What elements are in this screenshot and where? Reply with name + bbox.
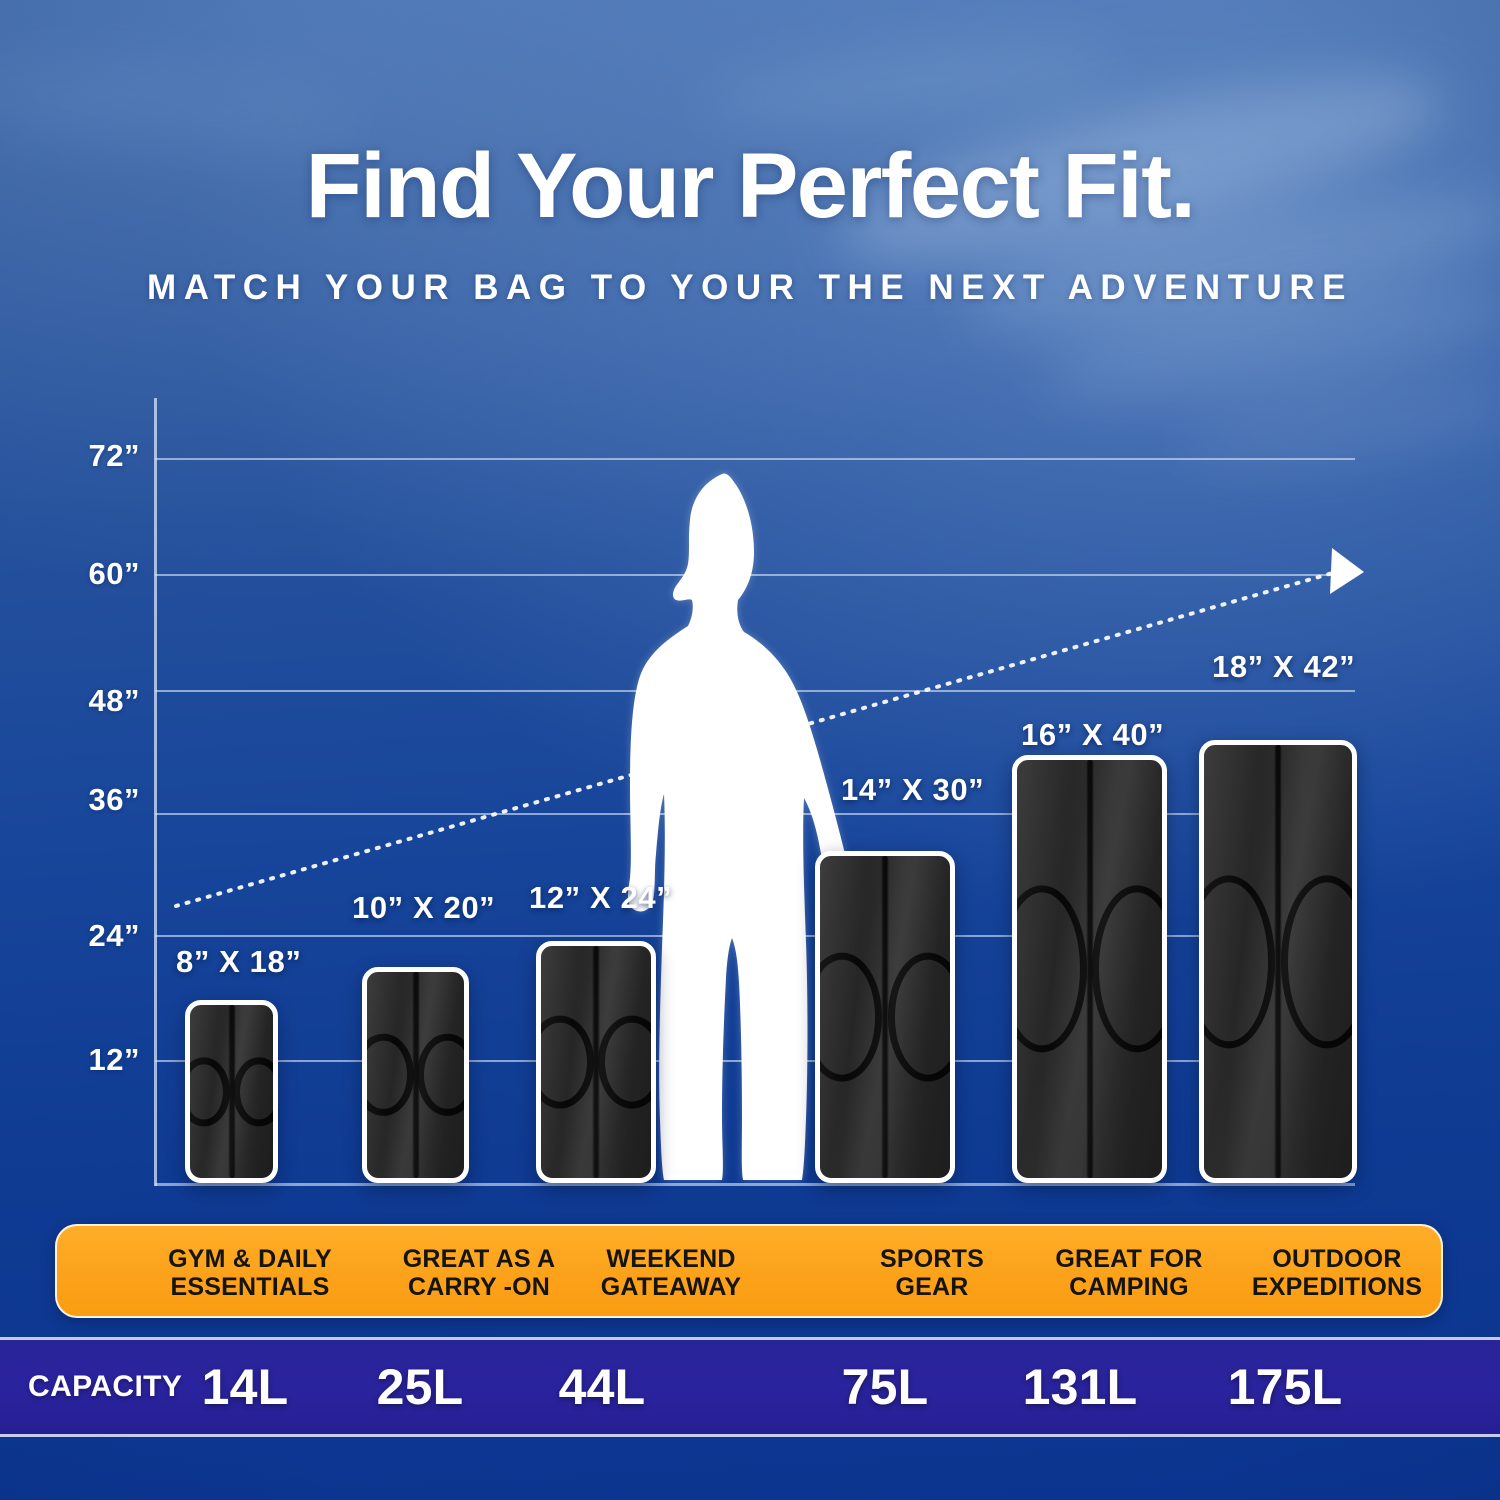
use-case-line: EXPEDITIONS bbox=[1252, 1273, 1422, 1302]
gridline-72 bbox=[155, 458, 1355, 460]
y-tick-label: 24” bbox=[89, 918, 140, 954]
use-case-line: ESSENTIALS bbox=[171, 1273, 330, 1302]
capacity-value-2: 25L bbox=[325, 1340, 515, 1434]
bar-label-1: 8” X 18” bbox=[176, 944, 301, 980]
bag-bar-6[interactable] bbox=[1199, 740, 1357, 1183]
bag-bar-3[interactable] bbox=[536, 941, 656, 1183]
use-case-line: GYM & DAILY bbox=[168, 1245, 332, 1274]
use-case-line: OUTDOOR bbox=[1272, 1245, 1401, 1274]
bag-bar-4[interactable] bbox=[815, 851, 955, 1183]
bar-label-4: 14” X 30” bbox=[841, 772, 984, 808]
bar-label-3: 12” X 24” bbox=[529, 880, 672, 916]
use-case-bar: GYM & DAILY ESSENTIALS GREAT AS A CARRY … bbox=[55, 1224, 1443, 1318]
bag-sheen bbox=[541, 946, 651, 1178]
y-tick-label: 36” bbox=[89, 782, 140, 818]
use-case-3[interactable]: WEEKEND GATEAWAY bbox=[556, 1240, 786, 1306]
use-case-line: CAMPING bbox=[1069, 1273, 1188, 1302]
bar-label-6: 18” X 42” bbox=[1212, 649, 1355, 685]
capacity-band: CAPACITY 14L 25L 44L 75L 131L 175L bbox=[0, 1337, 1500, 1437]
y-tick-label: 72” bbox=[89, 438, 140, 474]
use-case-4[interactable]: SPORTS GEAR bbox=[842, 1240, 1022, 1306]
bag-bar-1[interactable] bbox=[185, 1000, 278, 1183]
y-tick-label: 60” bbox=[89, 556, 140, 592]
use-case-1[interactable]: GYM & DAILY ESSENTIALS bbox=[130, 1240, 370, 1306]
use-case-line: GREAT AS A bbox=[403, 1245, 555, 1274]
use-case-5[interactable]: GREAT FOR CAMPING bbox=[1020, 1240, 1238, 1306]
bag-bar-2[interactable] bbox=[362, 967, 469, 1183]
y-axis-line bbox=[154, 398, 157, 1186]
bag-sheen bbox=[190, 1005, 273, 1178]
bar-label-2: 10” X 20” bbox=[352, 890, 495, 926]
bag-bar-5[interactable] bbox=[1012, 755, 1167, 1183]
y-tick-label: 12” bbox=[89, 1042, 140, 1078]
capacity-value-3: 44L bbox=[502, 1340, 702, 1434]
capacity-value-1: 14L bbox=[150, 1340, 340, 1434]
capacity-value-5: 131L bbox=[975, 1340, 1185, 1434]
use-case-line: GREAT FOR bbox=[1055, 1245, 1202, 1274]
use-case-2[interactable]: GREAT AS A CARRY -ON bbox=[374, 1240, 584, 1306]
use-case-line: WEEKEND bbox=[606, 1245, 735, 1274]
bag-sheen bbox=[367, 972, 464, 1178]
infographic-root: Find Your Perfect Fit. MATCH YOUR BAG TO… bbox=[0, 0, 1500, 1500]
bag-sheen bbox=[1204, 745, 1352, 1178]
y-tick-label: 48” bbox=[89, 683, 140, 719]
capacity-value-6: 175L bbox=[1180, 1340, 1390, 1434]
use-case-6[interactable]: OUTDOOR EXPEDITIONS bbox=[1222, 1240, 1452, 1306]
bar-label-5: 16” X 40” bbox=[1021, 717, 1164, 753]
capacity-value-4: 75L bbox=[790, 1340, 980, 1434]
use-case-line: GEAR bbox=[895, 1273, 968, 1302]
use-case-line: GATEAWAY bbox=[601, 1273, 742, 1302]
use-case-line: CARRY -ON bbox=[408, 1273, 550, 1302]
bag-sheen bbox=[820, 856, 950, 1178]
use-case-line: SPORTS bbox=[880, 1245, 984, 1274]
bag-sheen bbox=[1017, 760, 1162, 1178]
